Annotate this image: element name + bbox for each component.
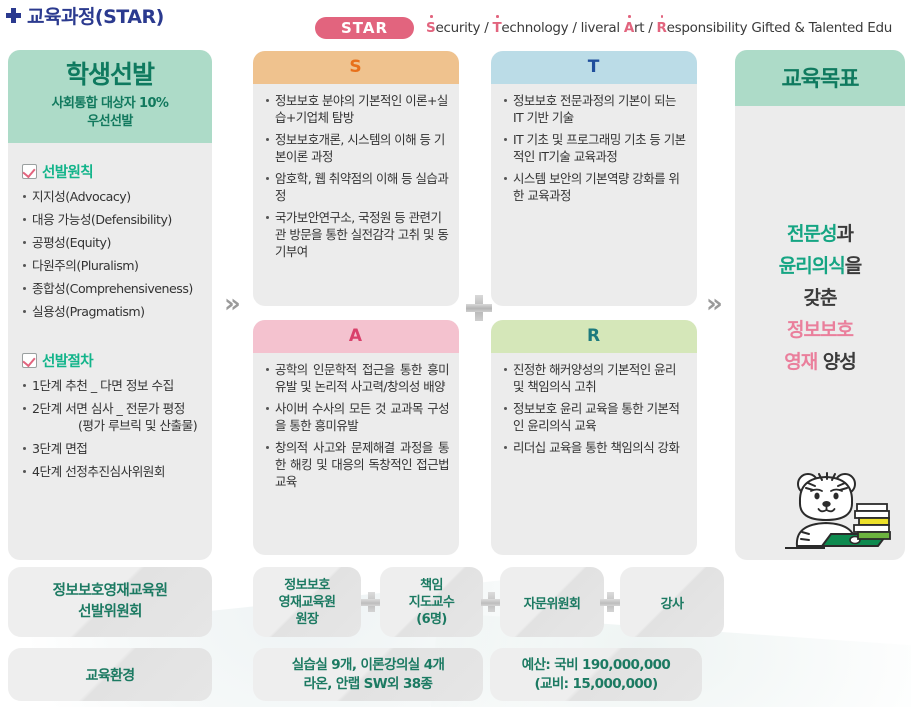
- staff-pill-professor: 책임 지도교수 (6명): [380, 567, 483, 637]
- list-item: 실용성(Pragmatism): [22, 303, 204, 320]
- goal-line-1: 전문성과: [735, 218, 905, 250]
- list-item: 2단계 서면 심사 _ 전문가 평정(평가 루브릭 및 산출물): [22, 400, 204, 434]
- curriculum-card-a: A 공학의 인문학적 접근을 통한 흥미 유발 및 논리적 사고력/창의성 배양…: [253, 320, 459, 555]
- plus-icon-bottom-1: [361, 592, 381, 612]
- list-item: 시스템 보안의 기본역량 강화를 위한 교육과정: [503, 170, 687, 204]
- goal-line-3: 갖춘: [735, 282, 905, 314]
- curriculum-letter-a: A: [253, 320, 459, 353]
- list-item-continuation: (평가 루브릭 및 산출물): [32, 417, 204, 434]
- list-item: 정보보호 분야의 기본적인 이론+실습+기업체 탐방: [265, 92, 449, 126]
- staff-pill-lecturer: 강사: [620, 567, 724, 637]
- list-item: 정보보호 전문과정의 기본이 되는 IT 기반 기술: [503, 92, 687, 126]
- list-item: 대응 가능성(Defensibility): [22, 211, 204, 228]
- goal-line-5: 영재 양성: [735, 346, 905, 378]
- student-selection-title: 학생선발: [14, 60, 206, 90]
- list-item: 1단계 추천 _ 다면 정보 수집: [22, 377, 204, 394]
- curriculum-list-r: 진정한 해커양성의 기본적인 윤리 및 책임의식 고취 정보보호 윤리 교육을 …: [503, 361, 687, 456]
- list-item: 사이버 수사의 모든 것 교과목 구성을 통한 흥미유발: [265, 400, 449, 434]
- curriculum-card-s: S 정보보호 분야의 기본적인 이론+실습+기업체 탐방 정보보호개론, 시스템…: [253, 51, 459, 306]
- list-item: 국가보안연구소, 국정원 등 관련기관 방문을 통한 실전감각 고취 및 동기부…: [265, 209, 449, 260]
- curriculum-card-r: R 진정한 해커양성의 기본적인 윤리 및 책임의식 고취 정보보호 윤리 교육…: [491, 320, 697, 555]
- list-item: 공평성(Equity): [22, 234, 204, 251]
- list-item: 다원주의(Pluralism): [22, 257, 204, 274]
- list-item: 3단계 면접: [22, 440, 204, 457]
- spacer: [22, 326, 204, 350]
- student-selection-card: 학생선발 사회통합 대상자 10% 우선선발 선발원칙 지지성(Advocacy…: [8, 50, 212, 560]
- curriculum-list-a: 공학의 인문학적 접근을 통한 흥미 유발 및 논리적 사고력/창의성 배양 사…: [265, 361, 449, 490]
- selection-process-label: 선발절차: [42, 350, 93, 371]
- tiger-with-laptop-mascot: [775, 462, 895, 557]
- page-title: 교육과정(STAR): [6, 2, 164, 29]
- selection-process-list: 1단계 추천 _ 다면 정보 수집 2단계 서면 심사 _ 전문가 평정(평가 …: [22, 377, 204, 480]
- curriculum-letter-t: T: [491, 51, 697, 84]
- page-title-label: 교육과정(STAR): [27, 2, 164, 29]
- education-goal-header: 교육목표: [735, 50, 905, 106]
- selection-committee-line2: 선발위원회: [53, 602, 168, 623]
- checkbox-icon: [22, 164, 37, 179]
- list-item: 지지성(Advocacy): [22, 188, 204, 205]
- list-item: 종합성(Comprehensiveness): [22, 280, 204, 297]
- star-legend-text: Security / Technology / liveral Art / Re…: [426, 20, 892, 36]
- list-item: 암호학, 웹 취약점의 이해 등 실습과정: [265, 170, 449, 204]
- chevron-right-icon-right: »: [706, 291, 723, 317]
- selection-principles-label: 선발원칙: [42, 161, 93, 182]
- education-goal-title: 교육목표: [741, 61, 899, 93]
- diagram-canvas: 교육과정(STAR) STAR Security / Technology / …: [0, 0, 911, 707]
- list-item: 리더십 교육을 통한 책임의식 강화: [503, 439, 687, 456]
- student-selection-subtitle: 사회통합 대상자 10% 우선선발: [14, 95, 206, 131]
- facilities-pill: 실습실 9개, 이론강의실 4개 라온, 안랩 SW외 38종: [253, 648, 483, 701]
- budget-pill: 예산: 국비 190,000,000 (교비: 15,000,000): [490, 648, 702, 701]
- budget-line1: 예산: 국비 190,000,000: [522, 656, 670, 675]
- list-item: 정보보호개론, 시스템의 이해 등 기본이론 과정: [265, 131, 449, 165]
- curriculum-list-s: 정보보호 분야의 기본적인 이론+실습+기업체 탐방 정보보호개론, 시스템의 …: [265, 92, 449, 260]
- goal-line-2: 윤리의식을: [735, 250, 905, 282]
- facilities-line2: 라온, 안랩 SW외 38종: [292, 675, 445, 694]
- facilities-line1: 실습실 9개, 이론강의실 4개: [292, 656, 445, 675]
- budget-line2: (교비: 15,000,000): [522, 675, 670, 694]
- curriculum-letter-s: S: [253, 51, 459, 84]
- staff-professor-line1: 책임: [409, 577, 454, 594]
- list-item: 진정한 해커양성의 기본적인 윤리 및 책임의식 고취: [503, 361, 687, 395]
- goal-line-4: 정보보호: [735, 314, 905, 346]
- staff-professor-line2: 지도교수: [409, 594, 454, 611]
- selection-principles-list: 지지성(Advocacy) 대응 가능성(Defensibility) 공평성(…: [22, 188, 204, 320]
- list-item: 공학의 인문학적 접근을 통한 흥미 유발 및 논리적 사고력/창의성 배양: [265, 361, 449, 395]
- curriculum-letter-r: R: [491, 320, 697, 353]
- selection-committee-pill: 정보보호영재교육원 선발위원회: [8, 567, 212, 637]
- curriculum-list-t: 정보보호 전문과정의 기본이 되는 IT 기반 기술 IT 기초 및 프로그래밍…: [503, 92, 687, 204]
- staff-pill-director: 정보보호 영재교육원 원장: [253, 567, 361, 637]
- chevron-right-icon-left: »: [224, 291, 241, 317]
- star-badge: STAR: [315, 17, 414, 39]
- plus-icon-center: [466, 295, 492, 321]
- staff-professor-line3: (6명): [409, 611, 454, 628]
- curriculum-card-t: T 정보보호 전문과정의 기본이 되는 IT 기반 기술 IT 기초 및 프로그…: [491, 51, 697, 306]
- checkbox-icon: [22, 353, 37, 368]
- student-selection-body: 선발원칙 지지성(Advocacy) 대응 가능성(Defensibility)…: [8, 143, 212, 494]
- plus-icon-bottom-3: [600, 592, 620, 612]
- staff-pill-advisory: 자문위원회: [500, 567, 604, 637]
- plus-icon-bottom-2: [481, 592, 501, 612]
- staff-director-line2: 영재교육원: [279, 594, 336, 611]
- plus-icon: [6, 8, 21, 23]
- staff-director-line1: 정보보호: [279, 577, 336, 594]
- list-item: IT 기초 및 프로그래밍 기초 등 기본적인 IT기술 교육과정: [503, 131, 687, 165]
- student-selection-header: 학생선발 사회통합 대상자 10% 우선선발: [8, 50, 212, 143]
- selection-committee-line1: 정보보호영재교육원: [53, 581, 168, 602]
- list-item: 정보보호 윤리 교육을 통한 기본적인 윤리의식 교육: [503, 400, 687, 434]
- education-goal-text: 전문성과 윤리의식을 갖춘 정보보호 영재 양성: [735, 218, 905, 378]
- selection-principles-header: 선발원칙: [22, 161, 204, 182]
- selection-process-header: 선발절차: [22, 350, 204, 371]
- education-environment-pill: 교육환경: [8, 648, 212, 701]
- list-item: 4단계 선정추진심사위원회: [22, 463, 204, 480]
- staff-director-line3: 원장: [279, 611, 336, 628]
- star-legend: STAR Security / Technology / liveral Art…: [315, 17, 892, 39]
- list-item: 창의적 사고와 문제해결 과정을 통한 해킹 및 대응의 독창적인 접근법 교육: [265, 439, 449, 490]
